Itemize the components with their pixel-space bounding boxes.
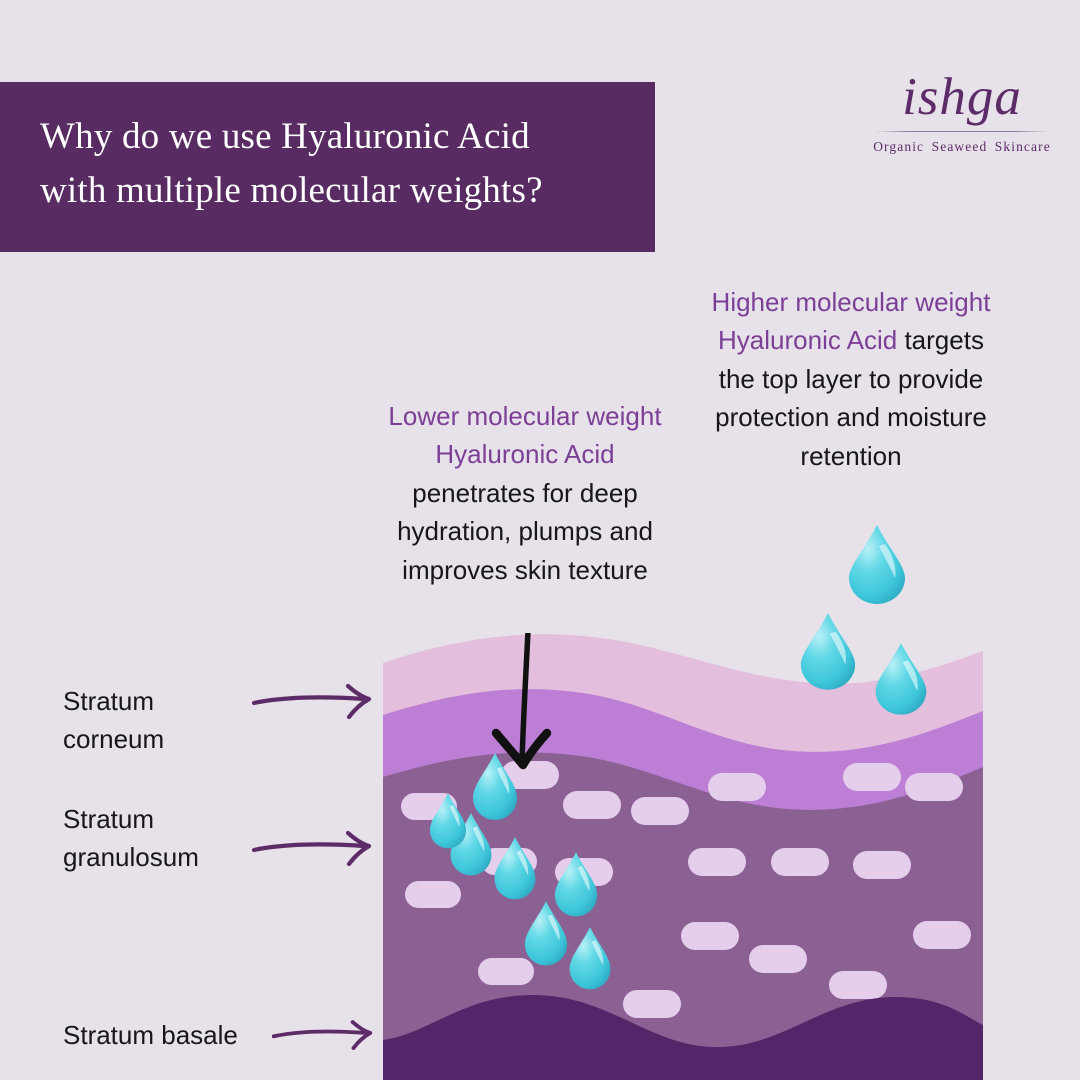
skin-cell [478, 958, 534, 985]
skin-cell [913, 921, 971, 949]
skin-cell [688, 848, 746, 876]
skin-cell [905, 773, 963, 801]
skin-cell [853, 851, 911, 879]
logo-wordmark: ishga [872, 68, 1052, 127]
logo-divider [874, 131, 1050, 132]
arrow-right-icon-basale [272, 1016, 377, 1060]
water-droplet-icon-mid [797, 610, 859, 690]
skin-cell [631, 797, 689, 825]
page-title: Why do we use Hyaluronic Acid with multi… [40, 110, 640, 217]
callout-left-body: penetrates for deep hydration, plumps an… [397, 478, 653, 585]
callout-lower-molecular-weight: Lower molecular weight Hyaluronic Acid p… [375, 397, 675, 589]
header-band: Why do we use Hyaluronic Acid with multi… [0, 82, 655, 252]
logo-tagline: Organic Seaweed Skincare [872, 139, 1052, 155]
skin-cell [681, 922, 739, 950]
callout-left-highlight: Lower molecular weight Hyaluronic Acid [388, 401, 661, 469]
arrow-right-icon-corneum [252, 683, 377, 727]
skin-cell [749, 945, 807, 973]
skin-cell [843, 763, 901, 791]
infographic-canvas: Why do we use Hyaluronic Acid with multi… [0, 0, 1080, 1080]
label-stratum-corneum: Stratum corneum [63, 682, 164, 759]
skin-cell [708, 773, 766, 801]
water-droplet-icon-low [872, 640, 930, 715]
brand-logo: ishga Organic Seaweed Skincare [872, 68, 1052, 155]
skin-cell [771, 848, 829, 876]
callout-higher-molecular-weight: Higher molecular weight Hyaluronic Acid … [706, 283, 996, 475]
skin-cell [405, 881, 461, 908]
arrow-right-icon-granulosum [252, 830, 377, 874]
skin-cell [623, 990, 681, 1018]
label-stratum-basale: Stratum basale [63, 1016, 238, 1054]
skin-cell [563, 791, 621, 819]
skin-cell [829, 971, 887, 999]
label-stratum-granulosum: Stratum granulosum [63, 800, 199, 877]
water-droplet-icon-top [845, 522, 909, 604]
